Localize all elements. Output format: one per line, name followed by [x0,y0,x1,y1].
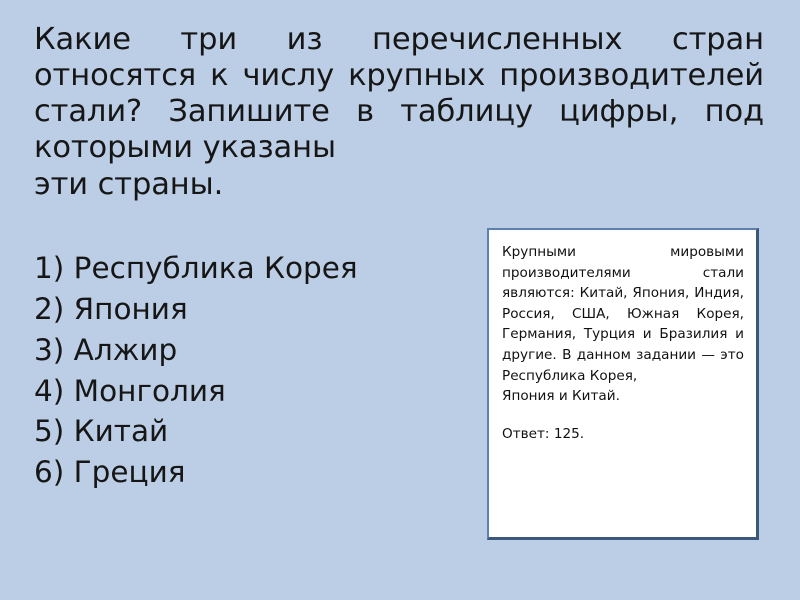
list-item[interactable]: 5) Китай [34,411,454,452]
list-item[interactable]: 2) Япония [34,289,454,330]
question-body: Какие три из перечисленных стран относят… [34,22,764,165]
list-item[interactable]: 6) Греция [34,452,454,493]
list-item[interactable]: 1) Республика Корея [34,248,454,289]
list-item[interactable]: 3) Алжир [34,330,454,371]
question-last-line: эти страны. [34,167,764,203]
answer-explanation-box: Крупными мировыми производителями стали … [487,228,759,540]
question-text: Какие три из перечисленных стран относят… [34,22,764,203]
answer-value: Ответ: 125. [502,424,744,445]
list-item[interactable]: 4) Монголия [34,371,454,412]
explanation-last-line: Япония и Китай. [502,386,744,407]
slide-canvas: Какие три из перечисленных стран относят… [0,0,800,600]
options-list: 1) Республика Корея 2) Япония 3) Алжир 4… [34,248,454,493]
explanation-text: Крупными мировыми производителями стали … [502,242,744,386]
